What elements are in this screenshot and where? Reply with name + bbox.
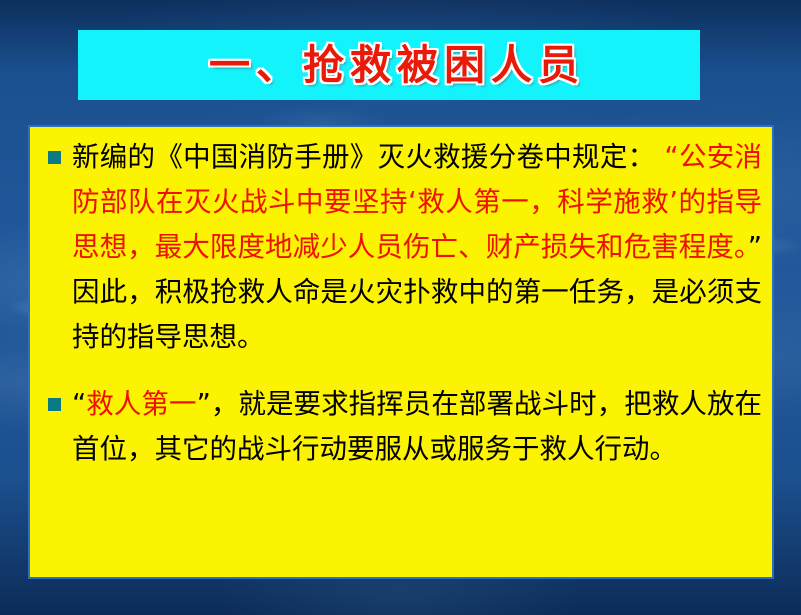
square-bullet-icon [48,151,61,164]
content-box: 新编的《中国消防手册》灭火救援分卷中规定： “公安消防部队在灭火战斗中要坚持‘救… [28,125,774,579]
slide-canvas: 一、抢救被困人员 新编的《中国消防手册》灭火救援分卷中规定： “公安消防部队在灭… [0,0,801,615]
bullet-1-run-1: 新编的《中国消防手册》灭火救援分卷中规定： [72,141,655,173]
bullet-2-run-1: “ [72,388,86,420]
bullet-item-2: “救人第一”，就是要求指挥员在部署战斗时，把救人放在首位，其它的战斗行动要服从或… [40,382,762,472]
title-banner: 一、抢救被困人员 [78,30,700,100]
bullet-2-text: “救人第一”，就是要求指挥员在部署战斗时，把救人放在首位，其它的战斗行动要服从或… [72,382,762,472]
page-title: 一、抢救被困人员 [193,45,585,86]
bullet-item-1: 新编的《中国消防手册》灭火救援分卷中规定： “公安消防部队在灭火战斗中要坚持‘救… [40,135,762,360]
square-bullet-icon [48,398,61,411]
bullet-2-run-2: 救人第一 [86,388,196,420]
bullet-1-text: 新编的《中国消防手册》灭火救援分卷中规定： “公安消防部队在灭火战斗中要坚持‘救… [72,135,762,360]
